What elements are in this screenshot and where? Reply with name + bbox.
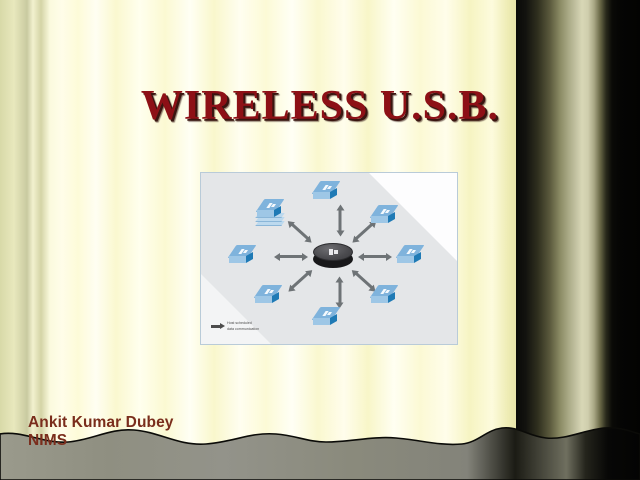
device-front-face — [371, 216, 388, 223]
wireless-usb-host-hub — [313, 243, 353, 269]
device-front-face — [313, 318, 330, 325]
device-bottom — [313, 307, 343, 331]
diagram-legend: Host scheduled data communication — [211, 321, 259, 332]
device-front-face — [313, 192, 330, 199]
page-title: WIRELESS U.S.B. — [0, 82, 640, 130]
arrow-hub-top-left — [291, 223, 309, 240]
wireless-usb-topology-diagram: Host scheduled data communication — [200, 172, 458, 345]
device-front-face — [371, 296, 388, 303]
curtain-backdrop-dark — [516, 0, 640, 480]
device-front-face — [257, 210, 274, 217]
device-left — [229, 245, 259, 269]
device-bottom-left — [255, 285, 285, 309]
hub-glyph-icon — [329, 249, 338, 255]
device-front-face — [397, 256, 414, 263]
presentation-slide: WIRELESS U.S.B. — [0, 0, 640, 480]
arrow-right-icon — [211, 325, 220, 328]
presenter-name: Ankit Kumar Dubey — [28, 414, 174, 432]
organization-name: NIMS — [28, 432, 67, 450]
arrow-hub-left — [279, 255, 303, 258]
legend-line-2: data communication — [223, 327, 259, 332]
device-top — [313, 181, 343, 205]
device-bottom-right — [371, 285, 401, 309]
arrow-hub-top — [339, 210, 342, 232]
device-right — [397, 245, 427, 269]
arrow-hub-bottom-left — [291, 272, 309, 289]
arrow-hub-bottom — [339, 282, 342, 304]
device-front-face — [255, 296, 272, 303]
device-front-face — [229, 256, 246, 263]
device-stack — [257, 199, 287, 223]
device-top-right — [371, 205, 401, 229]
arrow-hub-right — [363, 255, 387, 258]
legend-text: Host scheduled data communication — [223, 321, 259, 332]
